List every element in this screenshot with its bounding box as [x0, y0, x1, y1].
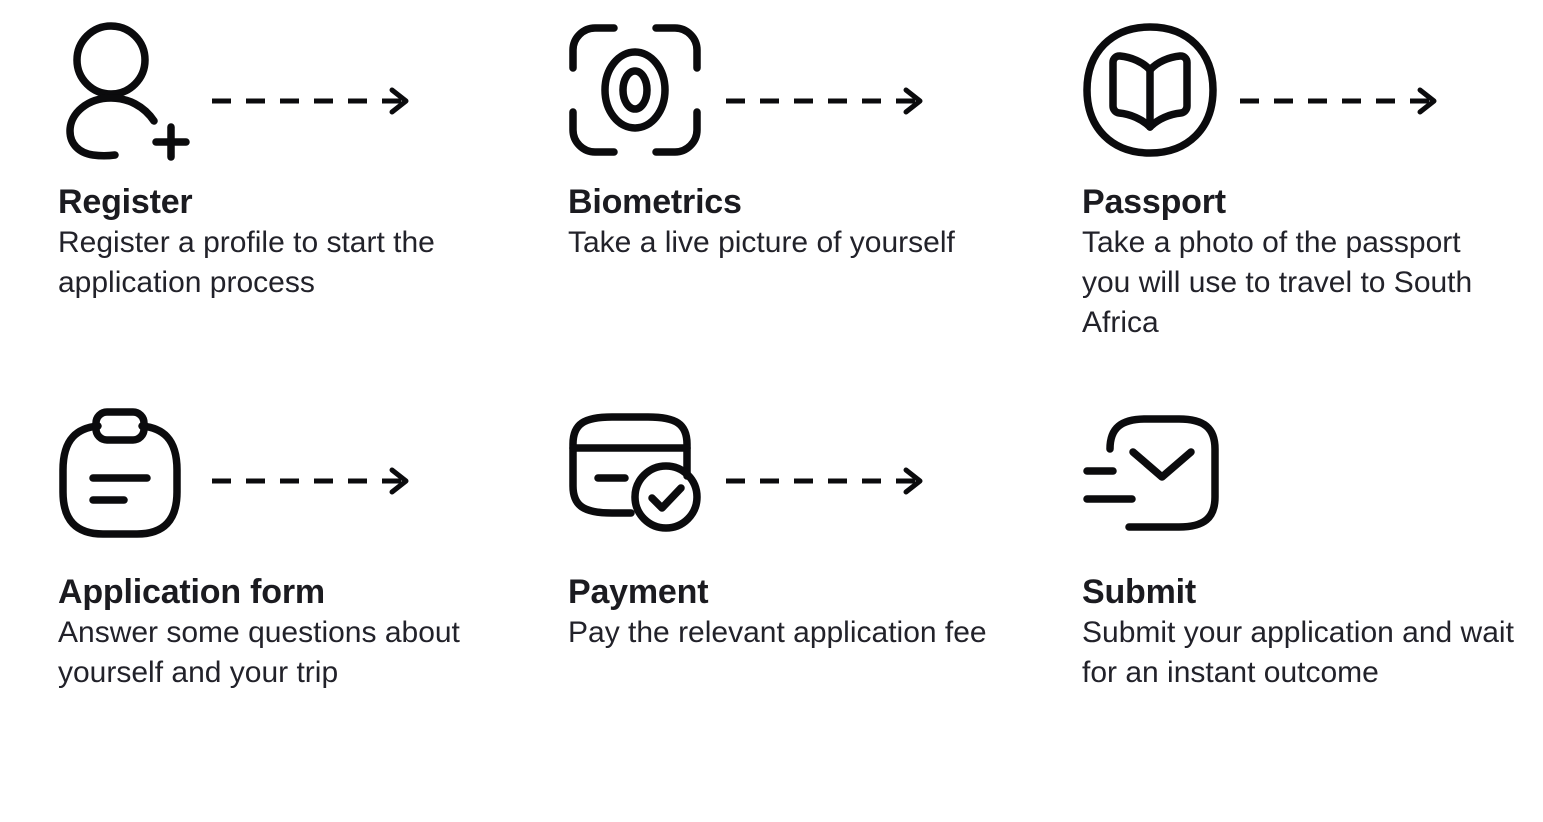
step-title: Payment	[568, 574, 1000, 611]
step-passport-icon-wrap	[1082, 0, 1542, 180]
step-description: Submit your application and wait for an …	[1082, 613, 1514, 693]
process-flow-diagram: Register Register a profile to start the…	[0, 0, 1543, 822]
step-passport-text: Passport Take a photo of the passport yo…	[1082, 184, 1514, 343]
step-description: Answer some questions about yourself and…	[58, 613, 490, 693]
face-scan-icon	[568, 23, 702, 157]
send-mail-icon	[1082, 414, 1220, 532]
credit-card-check-icon	[568, 412, 702, 534]
step-passport[interactable]: Passport Take a photo of the passport yo…	[1028, 0, 1542, 410]
step-application-form-icon-wrap	[58, 375, 514, 570]
step-submit-icon-wrap	[1082, 375, 1542, 570]
step-register-text: Register Register a profile to start the…	[58, 184, 490, 303]
step-title: Passport	[1082, 184, 1514, 221]
passport-book-icon	[1082, 22, 1218, 158]
step-payment-icon-wrap	[568, 375, 1028, 570]
step-application-form-text: Application form Answer some questions a…	[58, 574, 490, 693]
step-title: Application form	[58, 574, 490, 611]
step-description: Take a photo of the passport you will us…	[1082, 223, 1514, 344]
process-row-bottom: Application form Answer some questions a…	[0, 375, 1543, 822]
step-payment[interactable]: Payment Pay the relevant application fee	[514, 375, 1028, 822]
step-title: Register	[58, 184, 490, 221]
step-title: Submit	[1082, 574, 1514, 611]
step-biometrics-text: Biometrics Take a live picture of yourse…	[568, 184, 1000, 263]
clipboard-form-icon	[58, 408, 182, 538]
user-add-icon	[58, 20, 188, 160]
step-description: Pay the relevant application fee	[568, 613, 1000, 653]
step-biometrics-icon-wrap	[568, 0, 1028, 180]
step-submit[interactable]: Submit Submit your application and wait …	[1028, 375, 1542, 822]
step-payment-text: Payment Pay the relevant application fee	[568, 574, 1000, 653]
step-application-form[interactable]: Application form Answer some questions a…	[0, 375, 514, 822]
step-description: Take a live picture of yourself	[568, 223, 1000, 263]
step-description: Register a profile to start the applicat…	[58, 223, 490, 303]
step-register[interactable]: Register Register a profile to start the…	[0, 0, 514, 410]
step-title: Biometrics	[568, 184, 1000, 221]
step-register-icon-wrap	[58, 0, 514, 180]
step-submit-text: Submit Submit your application and wait …	[1082, 574, 1514, 693]
step-biometrics[interactable]: Biometrics Take a live picture of yourse…	[514, 0, 1028, 410]
process-row-top: Register Register a profile to start the…	[0, 0, 1543, 410]
